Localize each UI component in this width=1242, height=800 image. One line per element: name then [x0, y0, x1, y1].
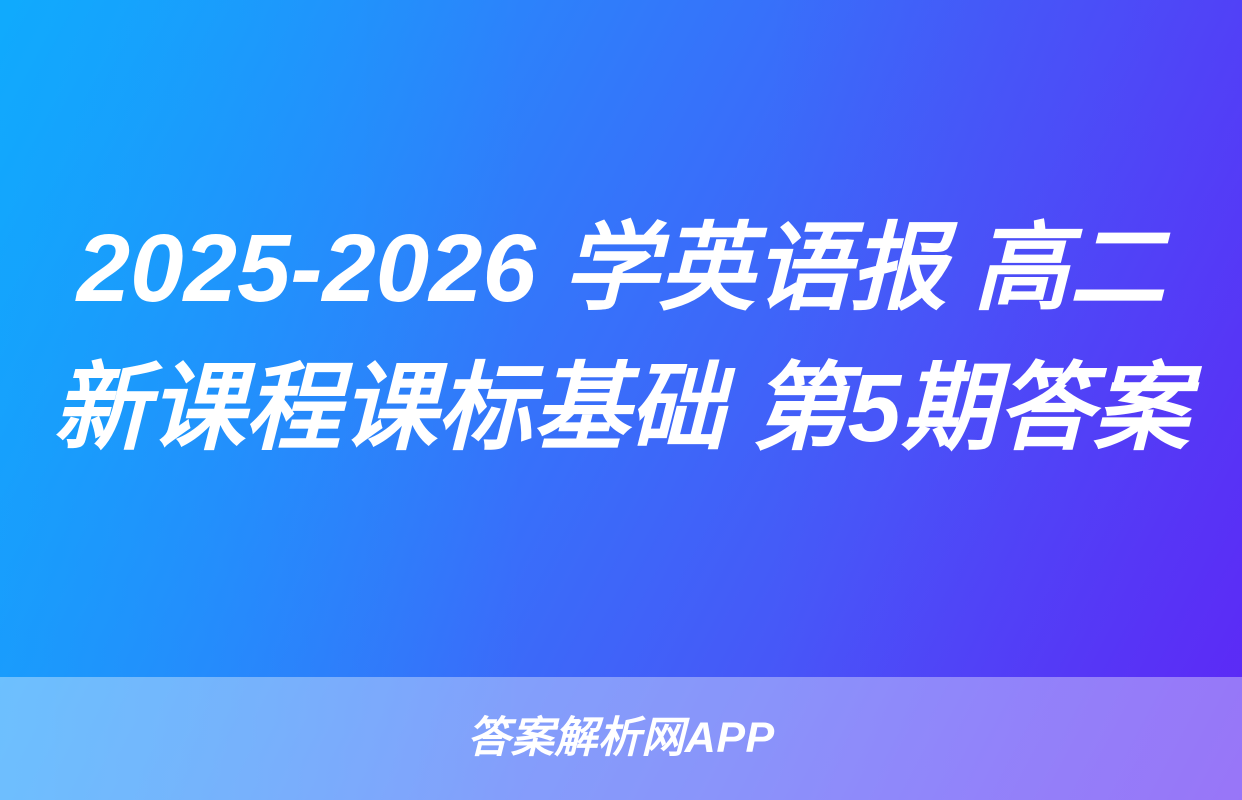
headline-container: 2025-2026 学英语报 高二 新课程课标基础 第5期答案: [0, 0, 1242, 677]
answer-card: 2025-2026 学英语报 高二 新课程课标基础 第5期答案 答案解析网APP: [0, 0, 1242, 800]
app-watermark-bar: 答案解析网APP: [0, 677, 1242, 800]
app-brand-label: 答案解析网APP: [467, 717, 774, 760]
page-title: 2025-2026 学英语报 高二 新课程课标基础 第5期答案: [44, 199, 1198, 479]
